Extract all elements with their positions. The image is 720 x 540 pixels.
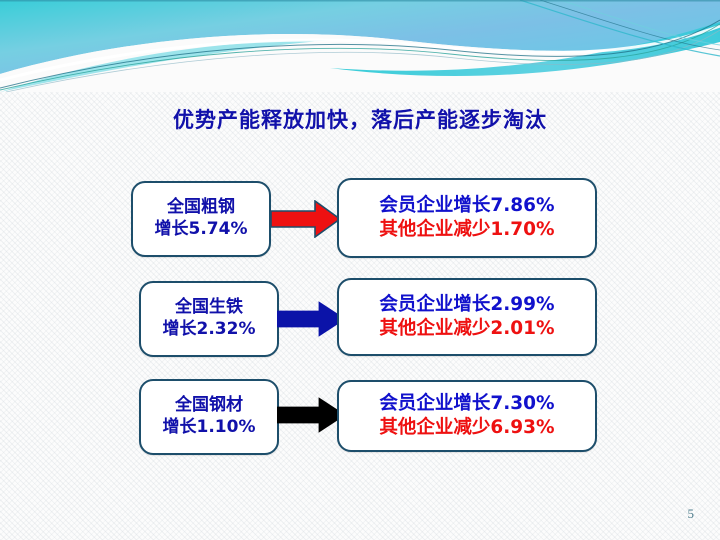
arrow-red [271,200,341,238]
source-label-line2: 增长1.10% [163,417,256,439]
page-number: 5 [688,506,695,522]
result-decrease-line: 其他企业减少2.01% [379,317,554,341]
source-label-line2: 增长5.74% [155,219,248,241]
flow-row: 全国生铁 增长2.32% 会员企业增长2.99% 其他企业减少2.01% [0,278,720,364]
slide: 优势产能释放加快，落后产能逐步淘汰 全国粗钢 增长5.74% 会员企业增长7.8… [0,0,720,540]
source-label-line1: 全国钢材 [175,395,243,417]
result-increase-line: 会员企业增长7.86% [379,194,554,218]
result-increase-line: 会员企业增长2.99% [379,293,554,317]
flow-row: 全国粗钢 增长5.74% 会员企业增长7.86% 其他企业减少1.70% [0,178,720,264]
result-decrease-line: 其他企业减少1.70% [379,218,554,242]
banner-svg [0,0,720,92]
source-box-pig-iron: 全国生铁 增长2.32% [139,281,279,357]
source-label-line1: 全国粗钢 [167,197,235,219]
source-label-line1: 全国生铁 [175,297,243,319]
result-box-crude-steel: 会员企业增长7.86% 其他企业减少1.70% [337,178,597,258]
result-box-steel-products: 会员企业增长7.30% 其他企业减少6.93% [337,380,597,452]
page-title: 优势产能释放加快，落后产能逐步淘汰 [0,104,720,134]
result-decrease-line: 其他企业减少6.93% [379,416,554,440]
source-box-crude-steel: 全国粗钢 增长5.74% [131,181,271,257]
source-box-steel-products: 全国钢材 增长1.10% [139,379,279,455]
source-label-line2: 增长2.32% [163,319,256,341]
flow-row: 全国钢材 增长1.10% 会员企业增长7.30% 其他企业减少6.93% [0,376,720,462]
header-banner-decoration [0,0,720,92]
result-box-pig-iron: 会员企业增长2.99% 其他企业减少2.01% [337,278,597,356]
result-increase-line: 会员企业增长7.30% [379,392,554,416]
arrow-red-icon [271,200,341,238]
